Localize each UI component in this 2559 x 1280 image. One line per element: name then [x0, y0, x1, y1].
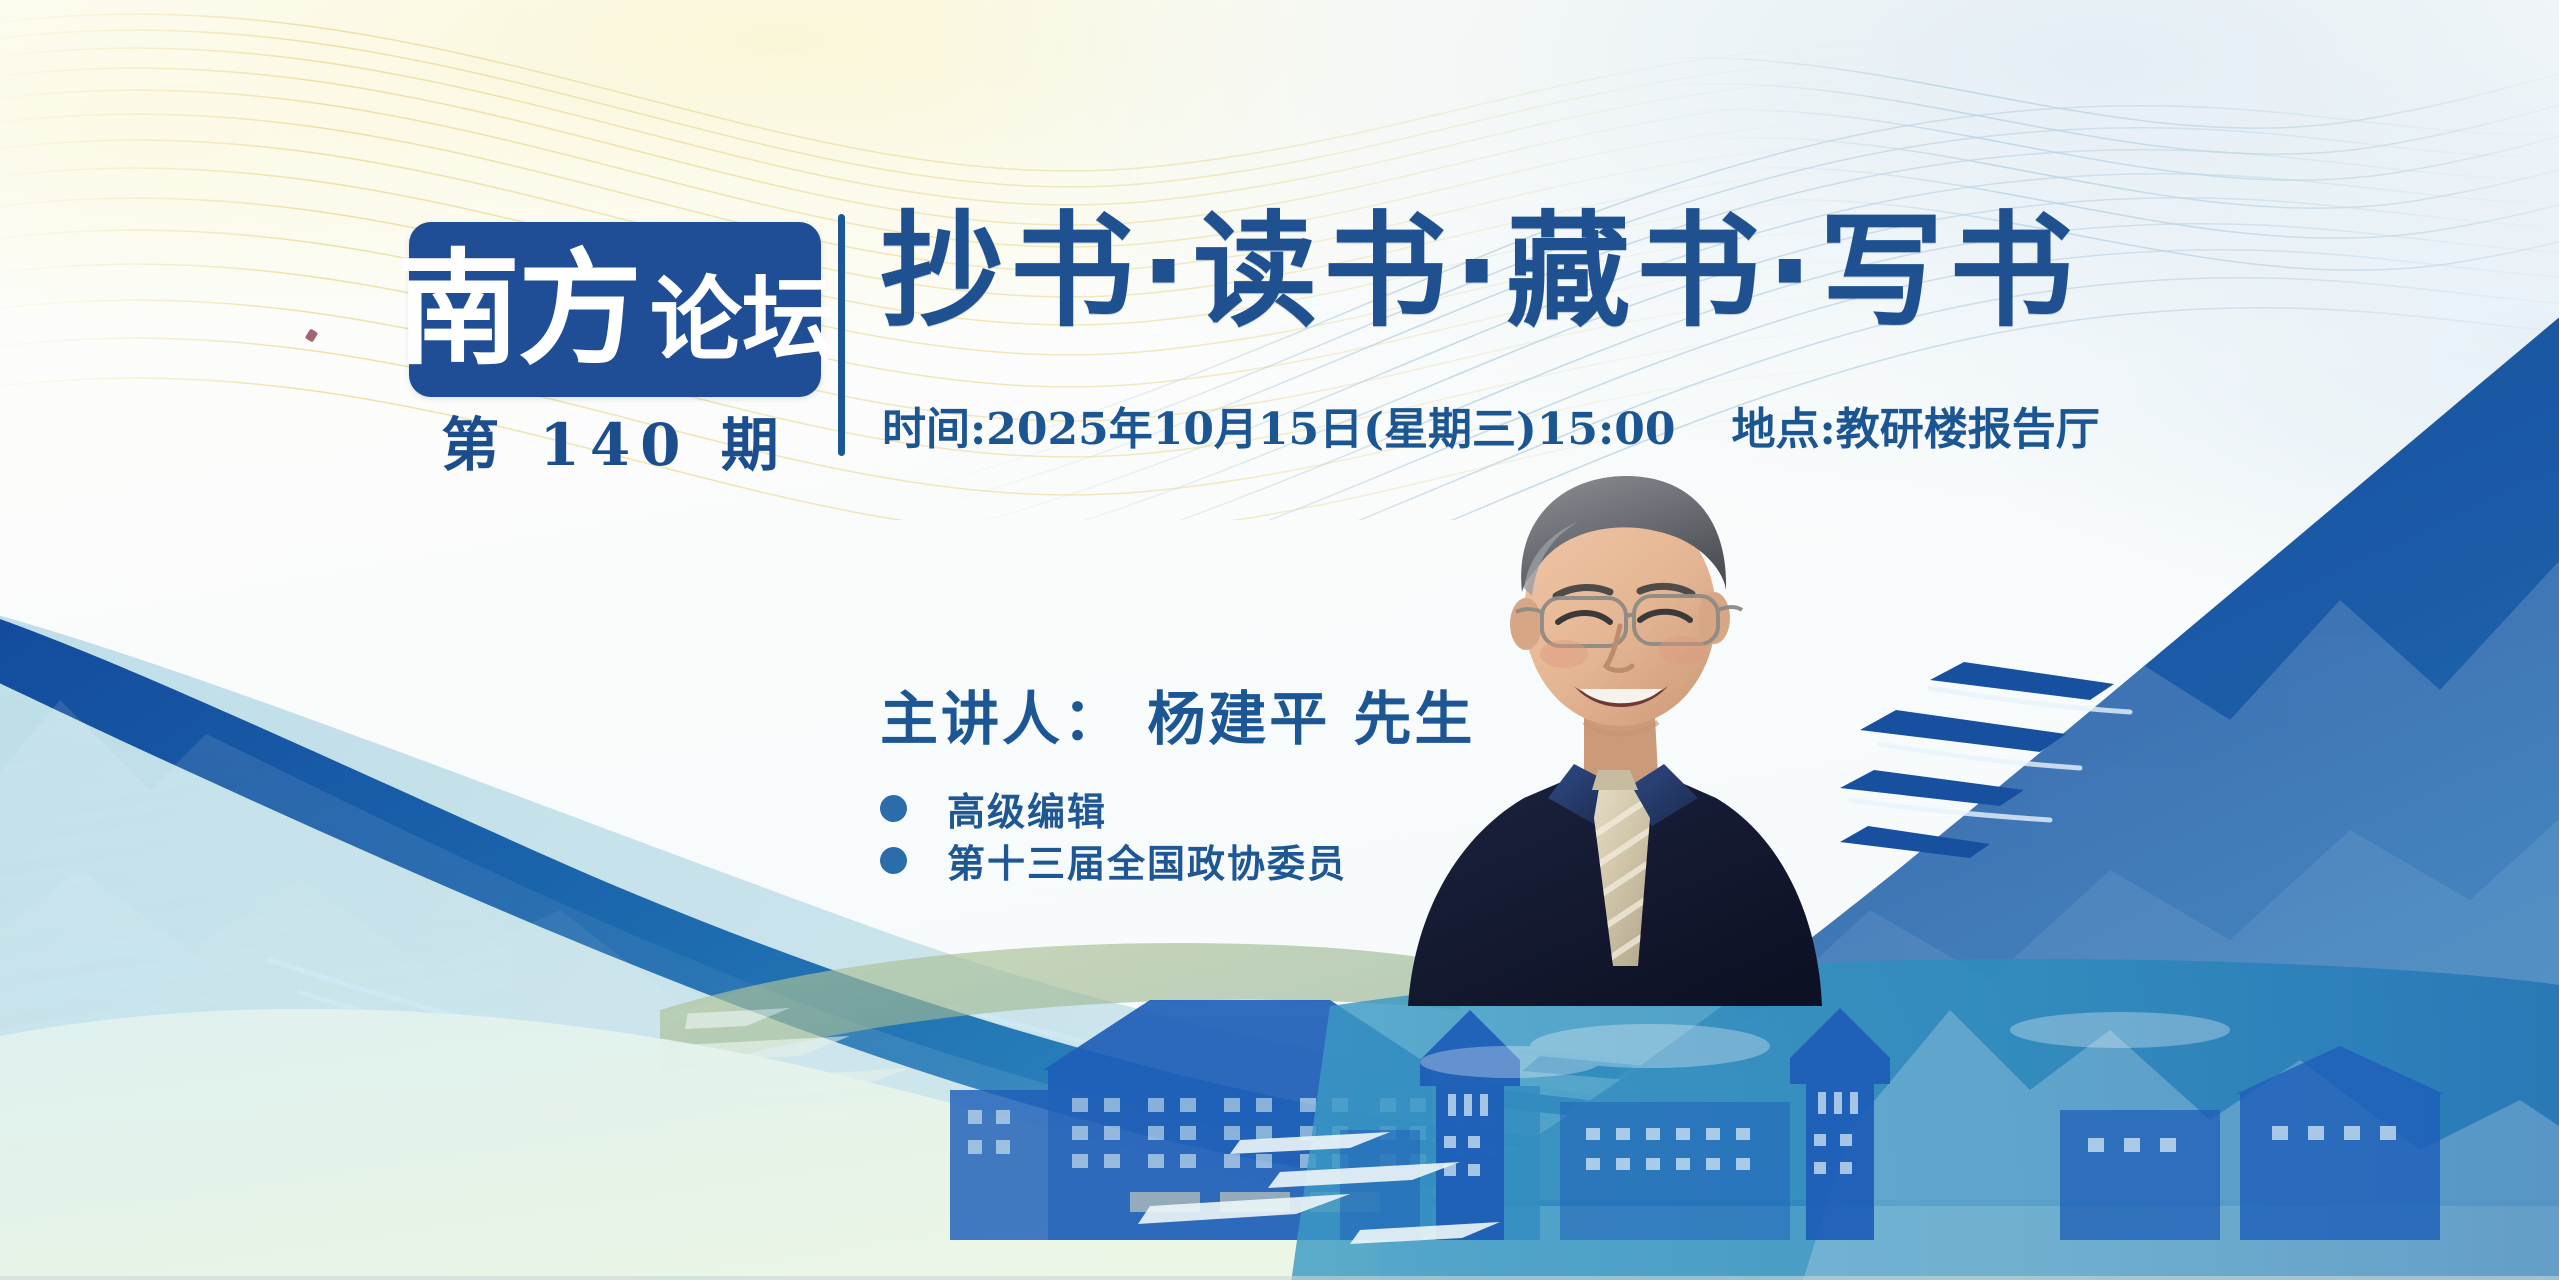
portrait-cheek-left	[1540, 640, 1588, 668]
portrait-cheek-right	[1658, 636, 1706, 664]
forum-logo-text-main: 南方	[396, 248, 640, 372]
page-title: 抄书·读书·藏书·写书	[880, 210, 2079, 334]
bottom-rule	[0, 1276, 2559, 1280]
forum-logo-badge[interactable]: 南方 论坛	[409, 222, 821, 397]
speaker-block: 主讲人： 杨建平 先生 高级编辑 第十三届全国政协委员	[880, 672, 1475, 886]
credential-label: 高级编辑	[947, 781, 1107, 836]
poster-header: 南方 论坛 第 140 期 抄书·读书·藏书·写书 时间:2025年10月15日…	[0, 0, 2559, 470]
header-divider	[838, 214, 845, 456]
credential-label: 第十三届全国政协委员	[947, 833, 1347, 888]
bullet-dot-icon	[880, 795, 907, 822]
list-item: 高级编辑	[880, 782, 1475, 834]
issue-number: 第 140 期	[409, 398, 821, 482]
event-meta: 时间:2025年10月15日(星期三)15:00 地点:教研楼报告厅	[882, 393, 2100, 457]
event-venue: 地点:教研楼报告厅	[1732, 393, 2100, 457]
speaker-name: 主讲人： 杨建平 先生	[880, 672, 1475, 756]
event-time: 时间:2025年10月15日(星期三)15:00	[882, 393, 1676, 457]
forum-logo-text-sub: 论坛	[650, 274, 834, 366]
teal-band-skyline	[1290, 959, 2559, 1280]
bullet-dot-icon	[880, 847, 907, 874]
speaker-credentials: 高级编辑 第十三届全国政协委员	[880, 782, 1475, 886]
portrait-ear-left	[1510, 598, 1542, 650]
forum-logo-text: 南方 论坛	[396, 248, 834, 372]
list-item: 第十三届全国政协委员	[880, 834, 1475, 886]
poster-canvas: 南方 论坛 第 140 期 抄书·读书·藏书·写书 时间:2025年10月15日…	[0, 0, 2559, 1280]
